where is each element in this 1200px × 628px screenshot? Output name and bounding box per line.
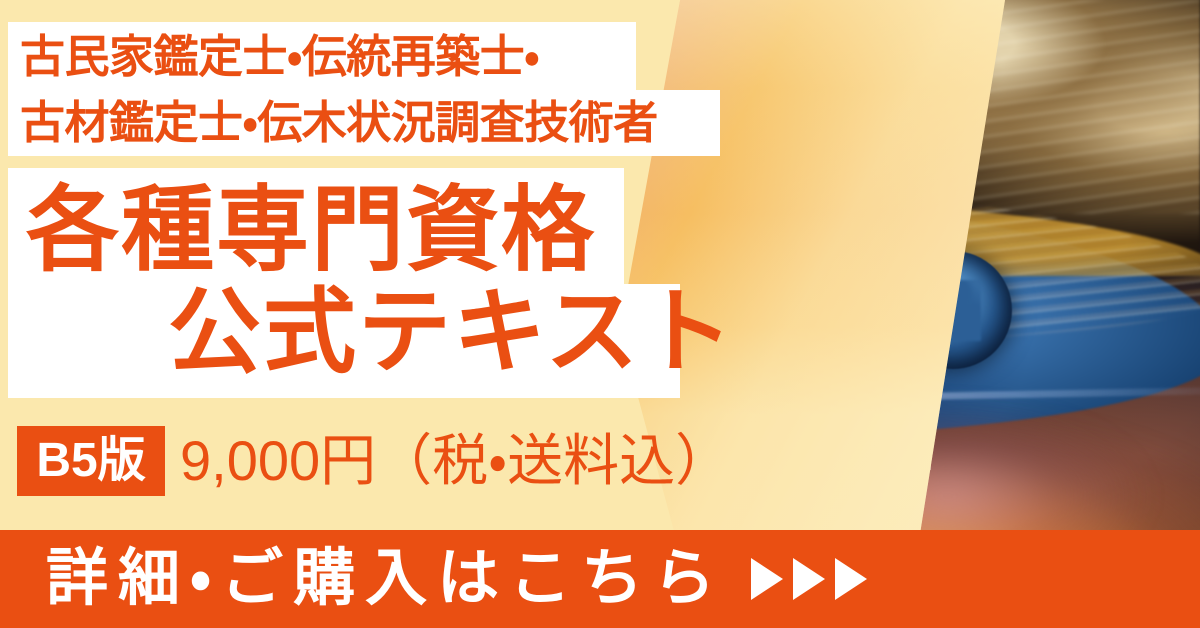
- qualification-subtitle-line-2: 古材鑑定士・伝木状況調査技術者: [20, 90, 720, 156]
- chevron-right-icon-3: [835, 558, 867, 600]
- format-badge: B5版: [17, 426, 165, 496]
- price-text: 9,000円（税・送料込）: [180, 428, 731, 494]
- chevron-right-icon-2: [793, 558, 825, 600]
- format-badge-label: B5版: [36, 437, 145, 485]
- headline-line-2: 公式テキスト: [168, 286, 735, 379]
- cta-arrows: [751, 558, 867, 600]
- cta-label[interactable]: 詳細・ご購入はこちら: [46, 548, 725, 610]
- chevron-right-icon-1: [751, 558, 783, 600]
- banner-root: 古民家 伝統構法 古民家活用のための調査と再生の 古民家鑑定士・伝統再築士・ 古…: [0, 0, 1200, 628]
- cta-bar[interactable]: 詳細・ご購入はこちら: [0, 530, 1200, 628]
- qualification-subtitle-line-1: 古民家鑑定士・伝統再築士・: [20, 24, 720, 90]
- headline-line-1: 各種専門資格: [26, 184, 596, 277]
- qualification-subtitle: 古民家鑑定士・伝統再築士・ 古材鑑定士・伝木状況調査技術者: [20, 24, 720, 156]
